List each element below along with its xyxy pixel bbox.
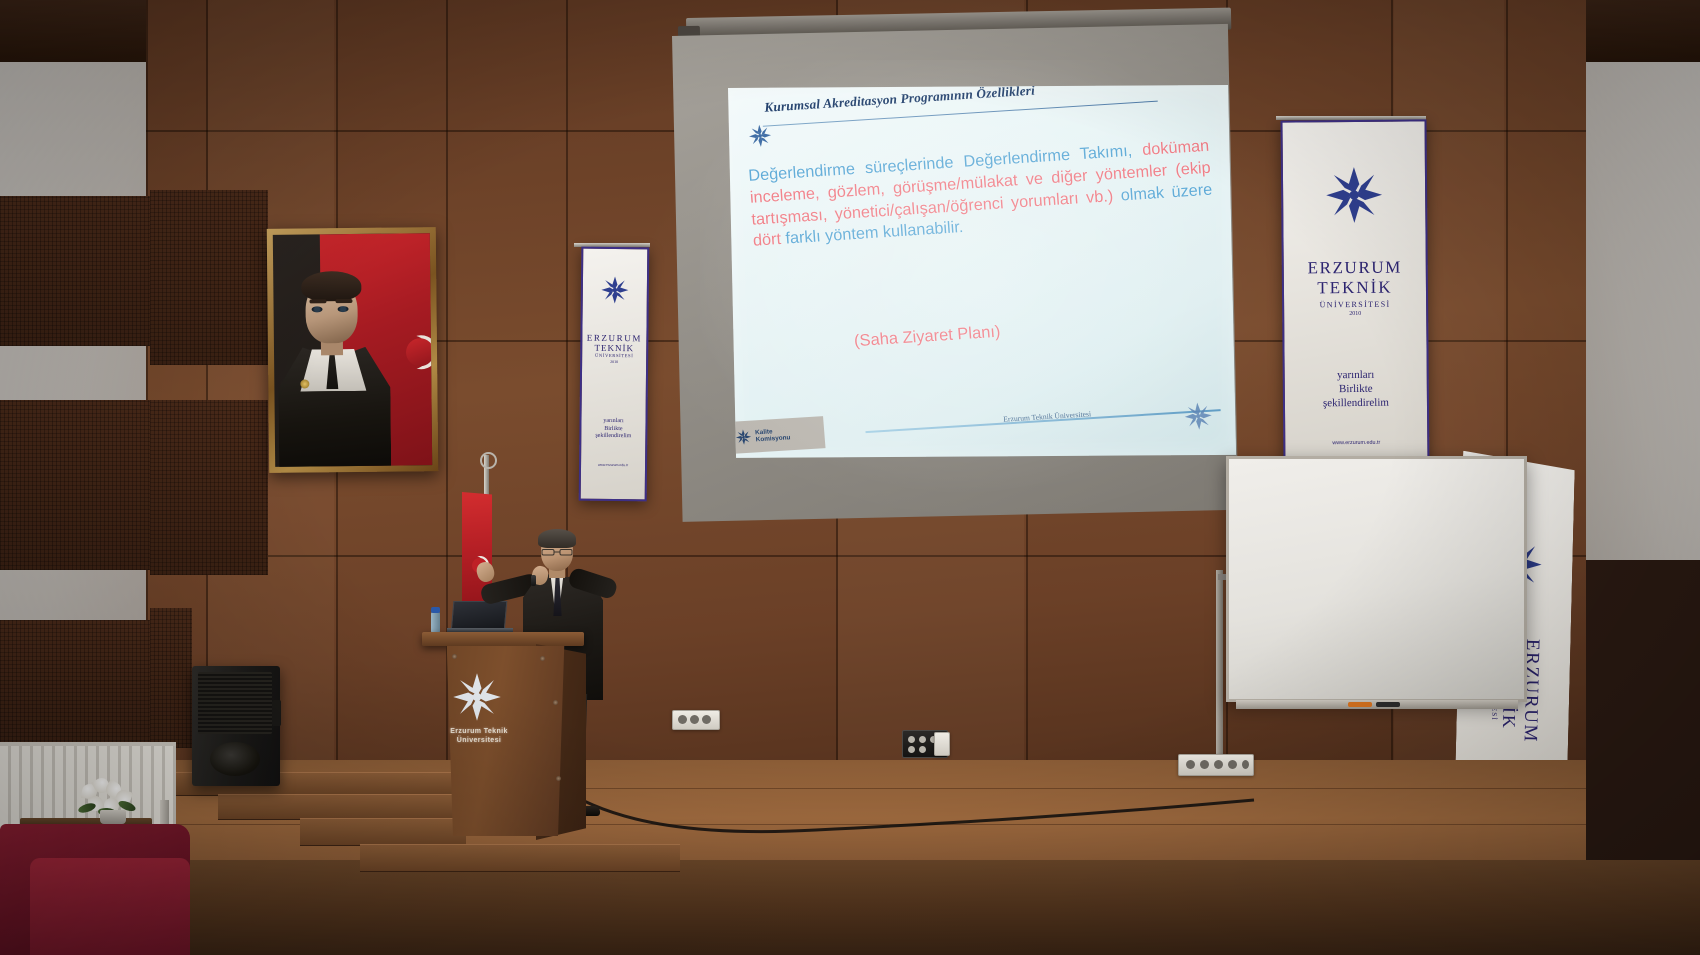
banner-title: ERZURUM: [582, 333, 646, 344]
wall-switch[interactable]: [934, 732, 950, 756]
podium-label-line-2: Üniversitesi: [443, 737, 515, 746]
snowflake-star-icon: [600, 275, 630, 305]
ataturk-portrait: [267, 227, 439, 473]
projection-screen-image: Kurumsal Akreditasyon Programının Özelli…: [728, 85, 1236, 458]
slide-quality-commission-badge: Kalite Komisyonu: [729, 416, 825, 454]
water-bottle[interactable]: [431, 612, 440, 634]
stage-step: [300, 818, 466, 846]
stage-step: [218, 794, 456, 820]
snowflake-star-icon: [1182, 400, 1214, 432]
badge-line-2: Komisyonu: [755, 434, 790, 443]
microphone[interactable]: [531, 575, 536, 586]
banner-subtitle: TEKNİK: [1284, 277, 1426, 298]
banner-url: www.erzurum.edu.tr: [1285, 440, 1427, 447]
banner-slogan-2: Birlikte: [1285, 382, 1427, 397]
whiteboard[interactable]: [1226, 456, 1527, 702]
banner-title: ERZURUM: [1284, 257, 1426, 278]
snowflake-star-icon: [1323, 164, 1386, 227]
stage-step: [360, 844, 680, 872]
banner-url: www.erzurum.edu.tr: [581, 462, 645, 467]
conference-hall-photo: Kurumsal Akreditasyon Programının Özelli…: [0, 0, 1700, 955]
podium-label-line-1: Erzurum Teknik: [443, 728, 515, 737]
pa-speaker-grille: [198, 672, 272, 734]
acoustic-panel: [150, 400, 268, 575]
right-wall: [1580, 0, 1700, 560]
acoustic-panel: [0, 196, 150, 346]
eyeglasses-icon: [541, 548, 574, 556]
podium-top: [422, 632, 584, 646]
acoustic-panel: [0, 620, 150, 745]
slide-body-text: Değerlendirme süreçlerinde Değerlendirme…: [748, 136, 1215, 253]
slide-caption: (Saha Ziyaret Planı): [853, 323, 1001, 352]
red-chair-seat: [30, 858, 190, 955]
banner-year: 2010: [582, 359, 646, 365]
banner-subtitle: TEKNİK: [582, 343, 646, 354]
flag-pole-finial: [480, 452, 497, 469]
slide-footer-credit: Erzurum Teknik Üniversitesi: [1003, 409, 1091, 423]
front-floor: [0, 860, 1700, 955]
banner-university: ÜNİVERSİTESİ: [1284, 299, 1426, 309]
snowflake-star-icon: [452, 672, 502, 722]
whiteboard-marker[interactable]: [1376, 702, 1400, 707]
presentation-slide: Kurumsal Akreditasyon Programının Özelli…: [728, 85, 1236, 458]
acoustic-panel: [150, 190, 268, 365]
banner-slogan-3: şekillendirelim: [581, 433, 645, 441]
banner-right-erzurum-teknik: ERZURUM TEKNİK ÜNİVERSİTESİ 2010 yarınla…: [1280, 119, 1429, 466]
pa-speaker-handle: [272, 700, 281, 726]
portrait-figure: [277, 261, 391, 467]
banner-left-erzurum-teknik: ERZURUM TEKNİK ÜNİVERSİTESİ 2010 yarınla…: [579, 247, 650, 502]
presenter-hair: [538, 529, 576, 548]
banner-slogan-1: yarınları: [1285, 368, 1427, 383]
whiteboard-marker[interactable]: [1348, 702, 1372, 707]
snowflake-star-icon: [734, 428, 753, 447]
acoustic-panel: [0, 400, 150, 570]
bottle-cap: [431, 607, 440, 613]
banner-slogan-3: şekillendirelim: [1285, 396, 1427, 411]
acoustic-panel: [150, 608, 192, 748]
podium-label: Erzurum Teknik Üniversitesi: [443, 728, 515, 746]
banner-year: 2010: [1284, 310, 1426, 317]
flower-vase: [100, 810, 126, 824]
pa-speaker-woofer: [210, 742, 260, 776]
banner-university: ÜNİVERSİTESİ: [582, 353, 646, 359]
